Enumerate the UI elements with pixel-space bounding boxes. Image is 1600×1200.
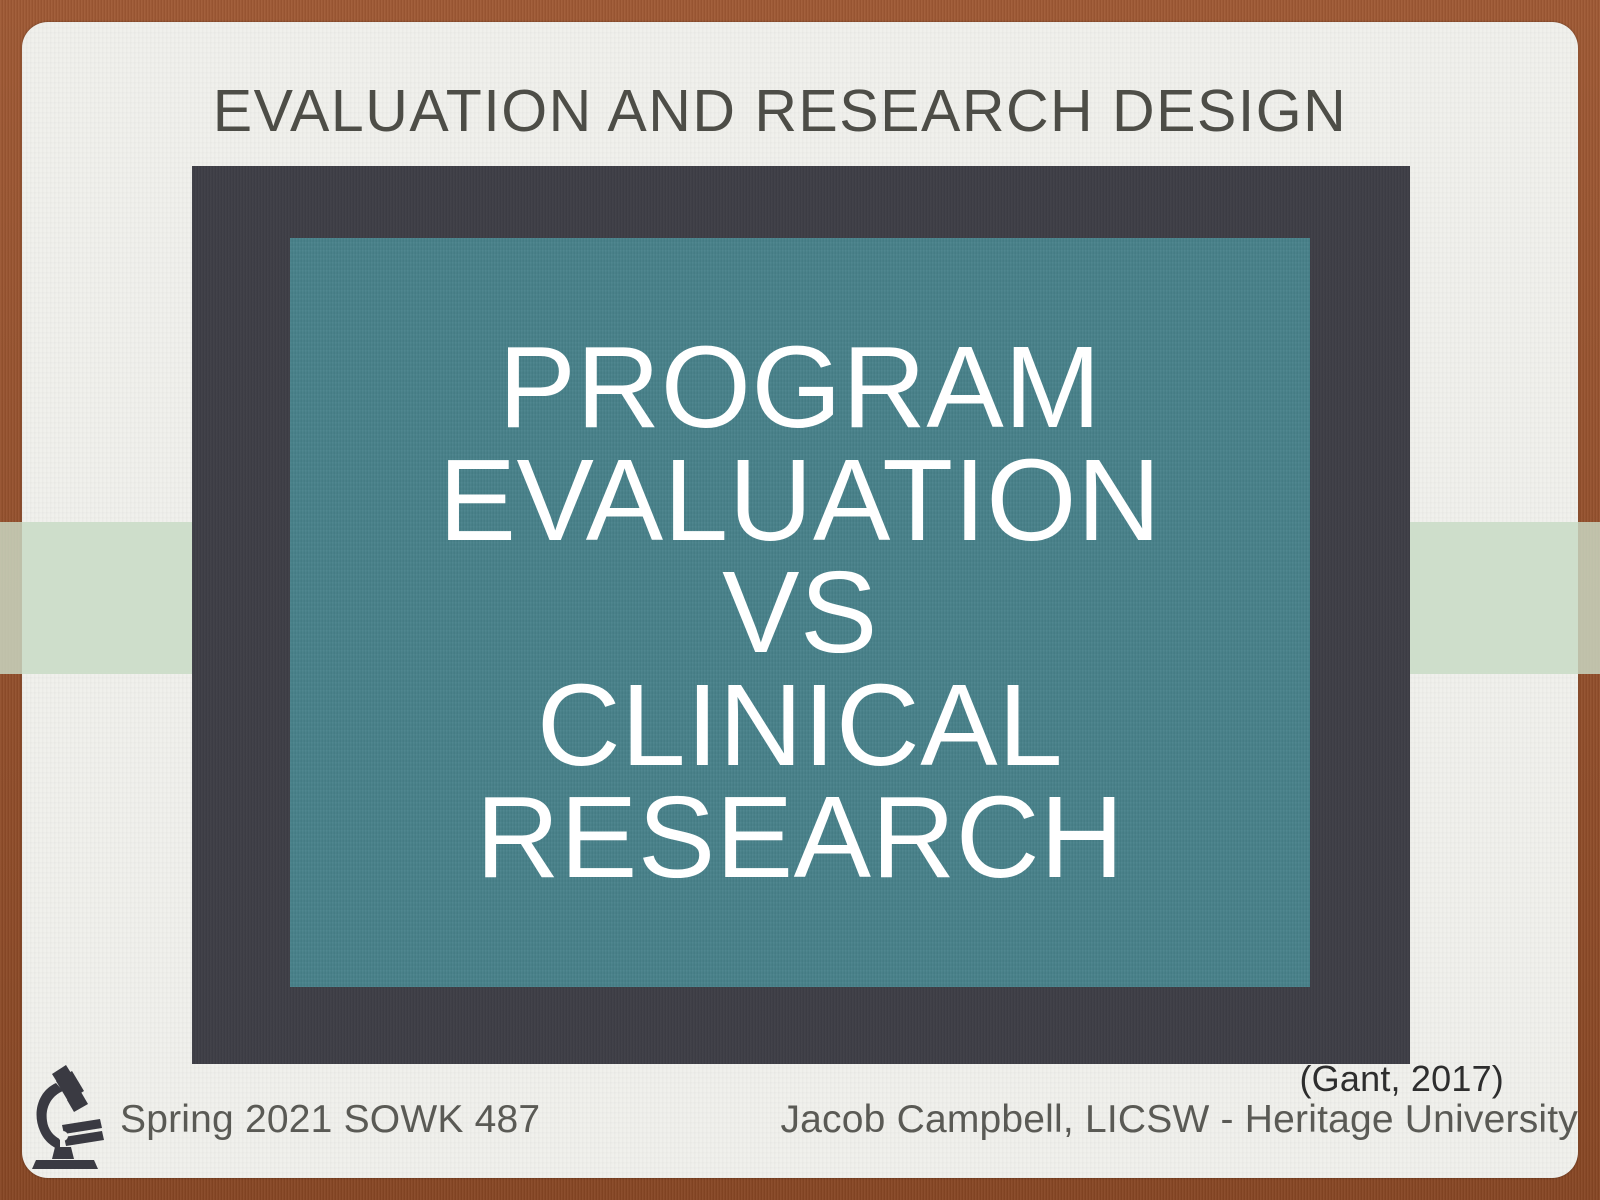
footer-course-label: Spring 2021 SOWK 487 bbox=[120, 1098, 540, 1142]
page-title: EVALUATION AND RESEARCH DESIGN bbox=[190, 82, 1370, 141]
citation-text: (Gant, 2017) bbox=[1299, 1058, 1504, 1100]
presentation-slide: EVALUATION AND RESEARCH DESIGN PROGRAM E… bbox=[0, 0, 1600, 1200]
headline-block: PROGRAM EVALUATION VS CLINICAL RESEARCH bbox=[425, 331, 1176, 894]
headline-line-5: RESEARCH bbox=[439, 781, 1162, 894]
teal-content-panel: PROGRAM EVALUATION VS CLINICAL RESEARCH bbox=[290, 238, 1310, 987]
microscope-icon bbox=[22, 1055, 108, 1171]
headline-line-4: CLINICAL bbox=[439, 669, 1162, 782]
headline-line-3: VS bbox=[439, 556, 1162, 669]
content-frame: PROGRAM EVALUATION VS CLINICAL RESEARCH bbox=[192, 166, 1410, 1064]
headline-line-1: PROGRAM bbox=[439, 331, 1162, 444]
headline-line-2: EVALUATION bbox=[439, 444, 1162, 557]
footer-author-label: Jacob Campbell, LICSW - Heritage Univers… bbox=[780, 1098, 1578, 1142]
